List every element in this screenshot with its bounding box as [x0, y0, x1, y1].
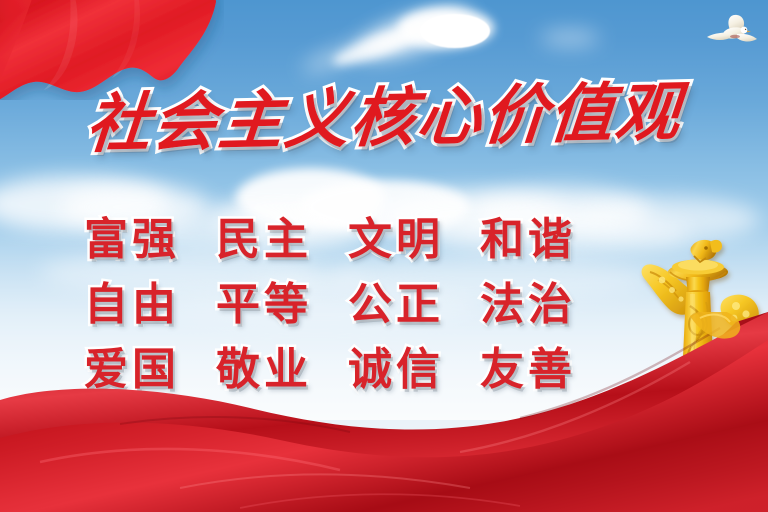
poster-title-block: 社会主义核心价值观 — [0, 80, 768, 158]
cloud — [540, 30, 600, 46]
values-row-1: 富强 民主 文明 和谐 — [0, 208, 660, 272]
socialist-core-values-poster: 社会主义核心价值观 富强 民主 文明 和谐 自由 平等 公正 法治 爱国 敬业 … — [0, 0, 768, 512]
white-dove-icon — [704, 12, 760, 56]
cloud — [420, 14, 490, 48]
value-word-minzhu: 民主 — [216, 216, 312, 264]
page-title: 社会主义核心价值观 — [83, 74, 685, 164]
red-silk-ribbon — [0, 312, 768, 512]
value-word-hexie: 和谐 — [480, 216, 576, 264]
value-word-wenming: 文明 — [348, 216, 444, 264]
value-word-fuqiang: 富强 — [84, 216, 180, 264]
